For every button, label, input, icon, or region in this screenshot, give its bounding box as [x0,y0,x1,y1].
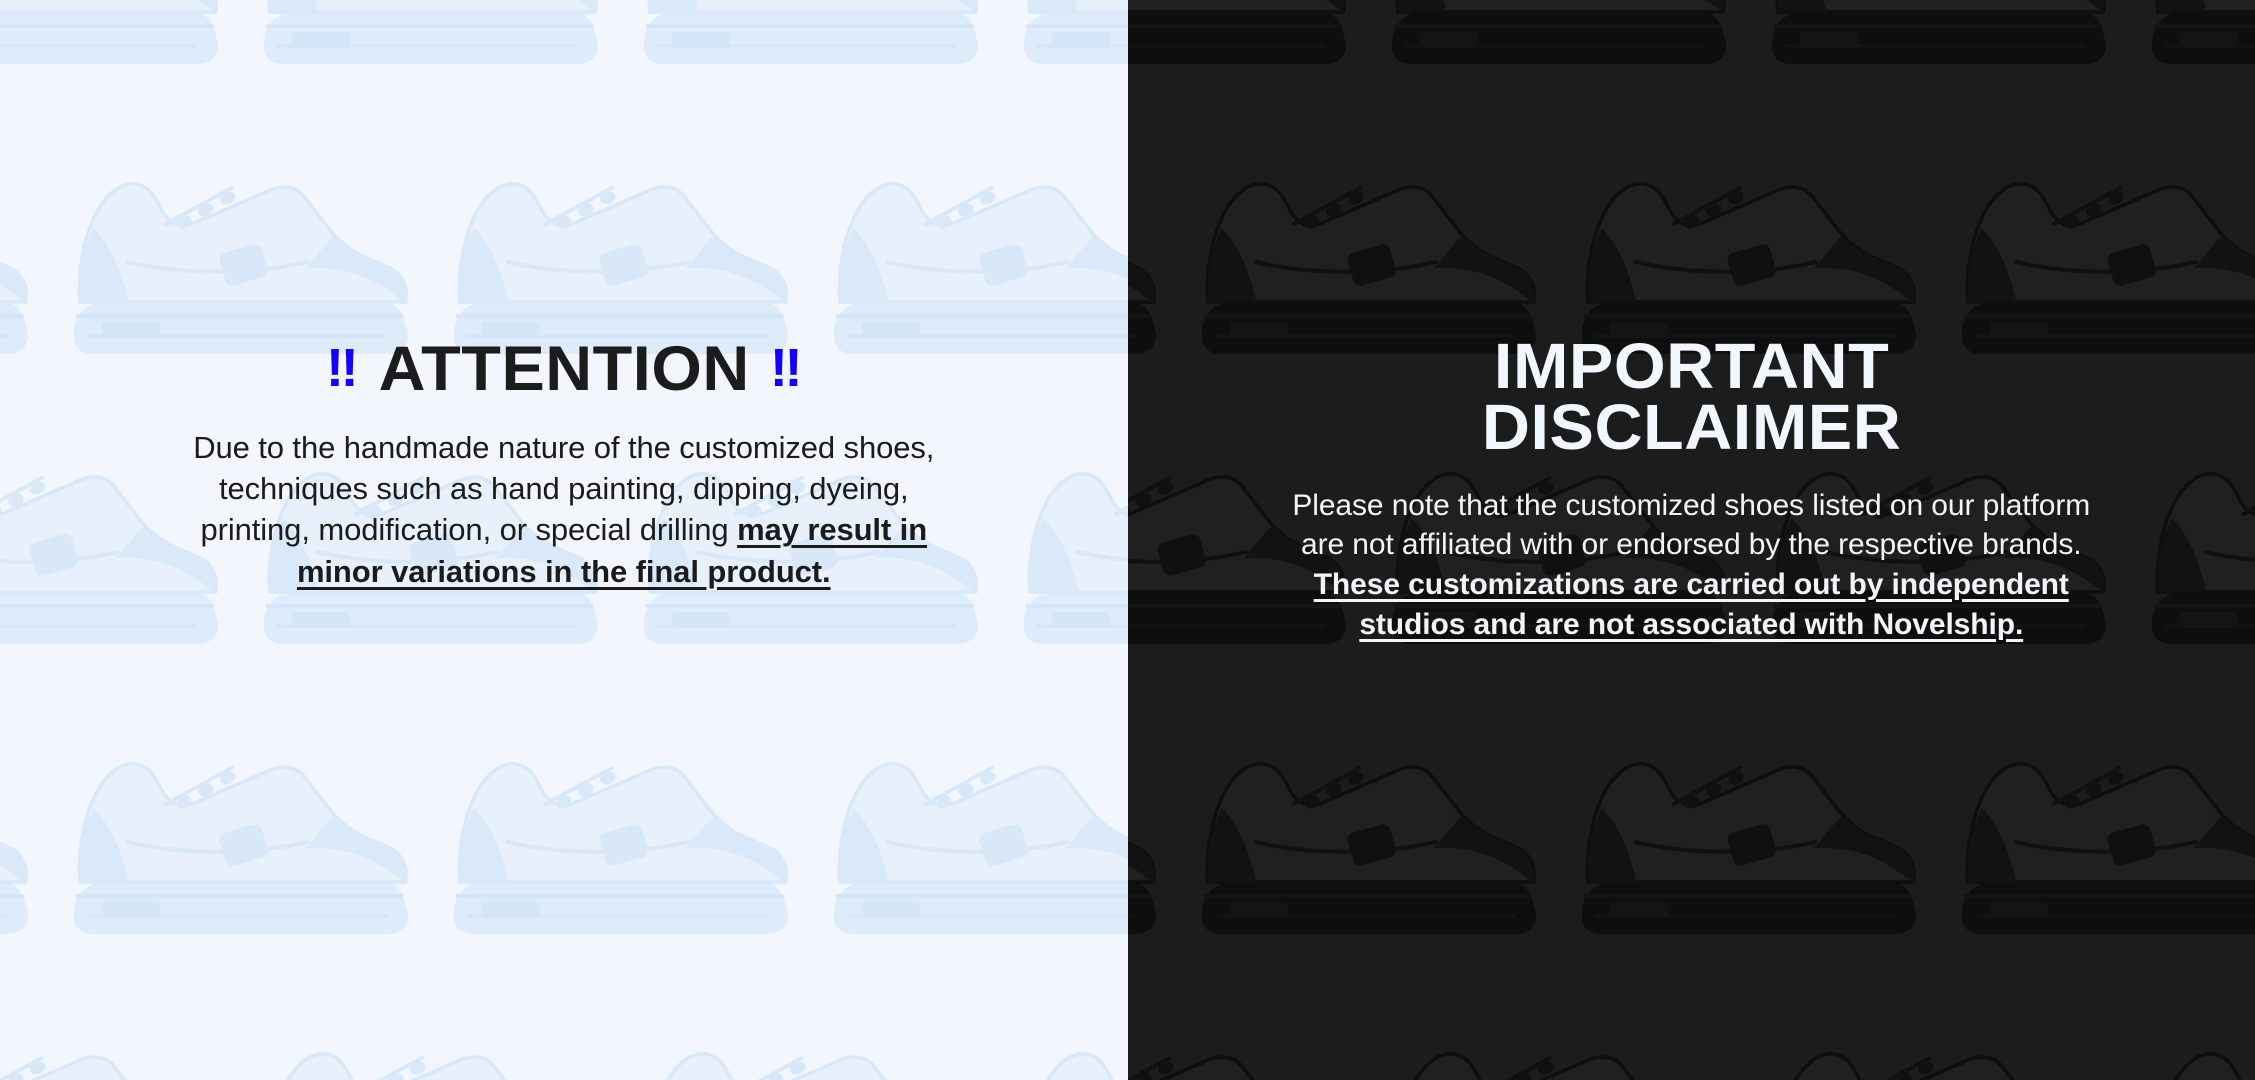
disclaimer-heading-line-1: IMPORTANT [1482,336,1901,397]
disclaimer-body-text: Please note that the customized shoes li… [1281,486,2101,646]
disclaimer-heading-line-2: DISCLAIMER [1482,397,1901,458]
attention-body-text: Due to the handmade nature of the custom… [169,427,959,592]
disclaimer-panel: IMPORTANT DISCLAIMER Please note that th… [1128,0,2255,1080]
double-exclamation-icon-right: ‼ [770,341,802,395]
double-exclamation-icon-left: ‼ [326,341,358,395]
attention-heading: ‼ ATTENTION ‼ [326,338,802,401]
disclaimer-heading: IMPORTANT DISCLAIMER [1482,336,1901,458]
disclaimer-body-normal: Please note that the customized shoes li… [1292,489,2090,562]
disclaimer-body-emphasis: These customizations are carried out by … [1314,568,2069,641]
disclaimer-banner: ‼ ATTENTION ‼ Due to the handmade nature… [0,0,2255,1080]
attention-heading-word: ATTENTION [378,338,749,401]
attention-panel: ‼ ATTENTION ‼ Due to the handmade nature… [0,0,1128,1080]
